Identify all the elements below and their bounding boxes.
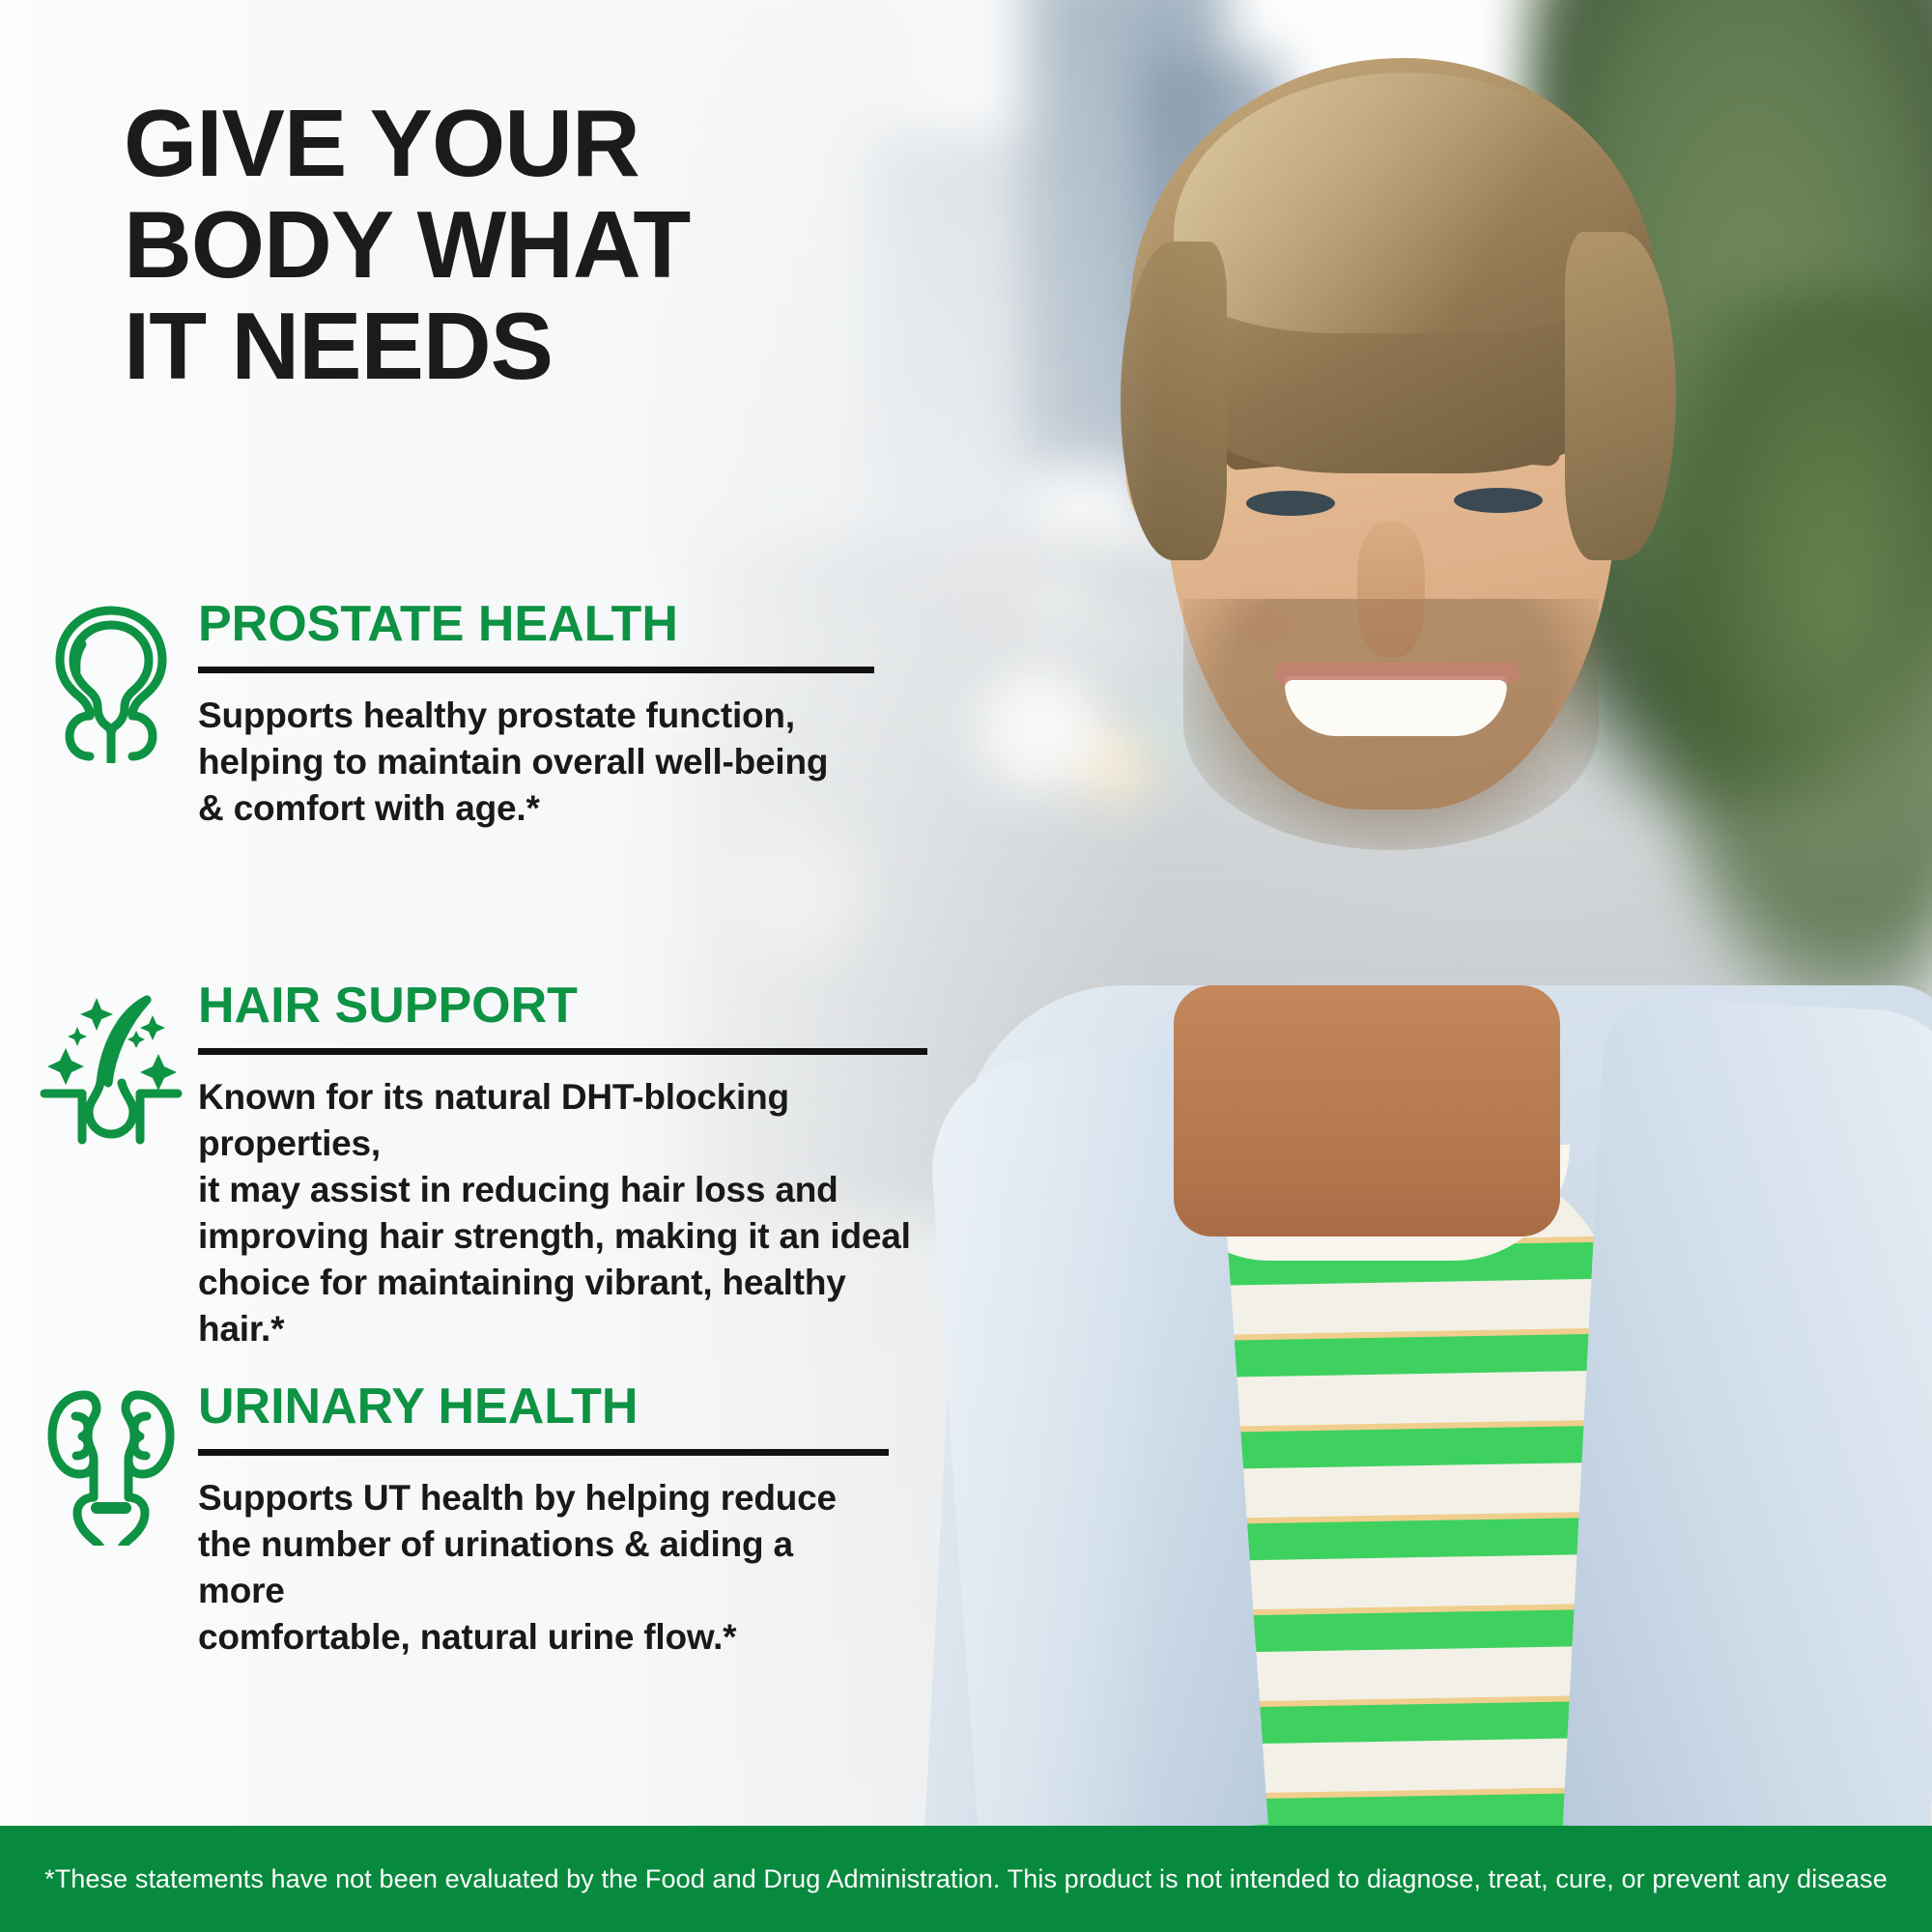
feature-description: Supports UT health by helping reduce the…: [198, 1475, 889, 1661]
neck: [1174, 985, 1560, 1236]
eye: [1246, 491, 1335, 516]
headline-line-1: GIVE YOUR: [124, 93, 916, 194]
feature-line: it may assist in reducing hair loss and: [198, 1167, 927, 1213]
feature-line: Supports UT health by helping reduce: [198, 1475, 889, 1521]
feature-description: Supports healthy prostate function, help…: [198, 693, 874, 832]
feature-line: choice for maintaining vibrant, healthy …: [198, 1260, 927, 1352]
feature-line: & comfort with age.*: [198, 785, 874, 832]
content-column: GIVE YOUR BODY WHAT IT NEEDS: [0, 0, 1024, 1826]
headline-line-2: BODY WHAT: [124, 194, 916, 296]
feature-body: URINARY HEALTH Supports UT health by hel…: [198, 1381, 889, 1661]
feature-title: PROSTATE HEALTH: [198, 599, 874, 649]
hair-side: [1565, 232, 1676, 560]
prostate-icon: [39, 599, 184, 763]
kidneys-bladder-icon: [39, 1381, 184, 1546]
feature-line: Supports healthy prostate function,: [198, 693, 874, 739]
feature-body: HAIR SUPPORT Known for its natural DHT-b…: [198, 980, 927, 1353]
feature-description: Known for its natural DHT-blocking prope…: [198, 1074, 927, 1353]
feature-divider: [198, 1048, 927, 1055]
disclaimer-text: *These statements have not been evaluate…: [44, 1864, 1888, 1894]
feature-line: the number of urinations & aiding a more: [198, 1521, 889, 1614]
smile-teeth: [1285, 676, 1507, 736]
denim-shirt-right-panel: [1563, 996, 1932, 1826]
eye: [1454, 488, 1543, 513]
feature-line: improving hair strength, making it an id…: [198, 1213, 927, 1260]
feature-line: helping to maintain overall well-being: [198, 739, 874, 785]
feature-divider: [198, 667, 874, 673]
feature-body: PROSTATE HEALTH Supports healthy prostat…: [198, 599, 874, 832]
feature-divider: [198, 1449, 889, 1456]
feature-line: comfortable, natural urine flow.*: [198, 1614, 889, 1661]
headline-line-3: IT NEEDS: [124, 296, 916, 397]
feature-line: Known for its natural DHT-blocking prope…: [198, 1074, 927, 1167]
promo-poster: GIVE YOUR BODY WHAT IT NEEDS: [0, 0, 1932, 1932]
nose: [1357, 522, 1425, 657]
feature-title: HAIR SUPPORT: [198, 980, 927, 1031]
page-title: GIVE YOUR BODY WHAT IT NEEDS: [124, 93, 916, 397]
feature-title: URINARY HEALTH: [198, 1381, 889, 1432]
hair-follicle-icon: [39, 980, 184, 1145]
disclaimer-bar: *These statements have not been evaluate…: [0, 1826, 1932, 1932]
